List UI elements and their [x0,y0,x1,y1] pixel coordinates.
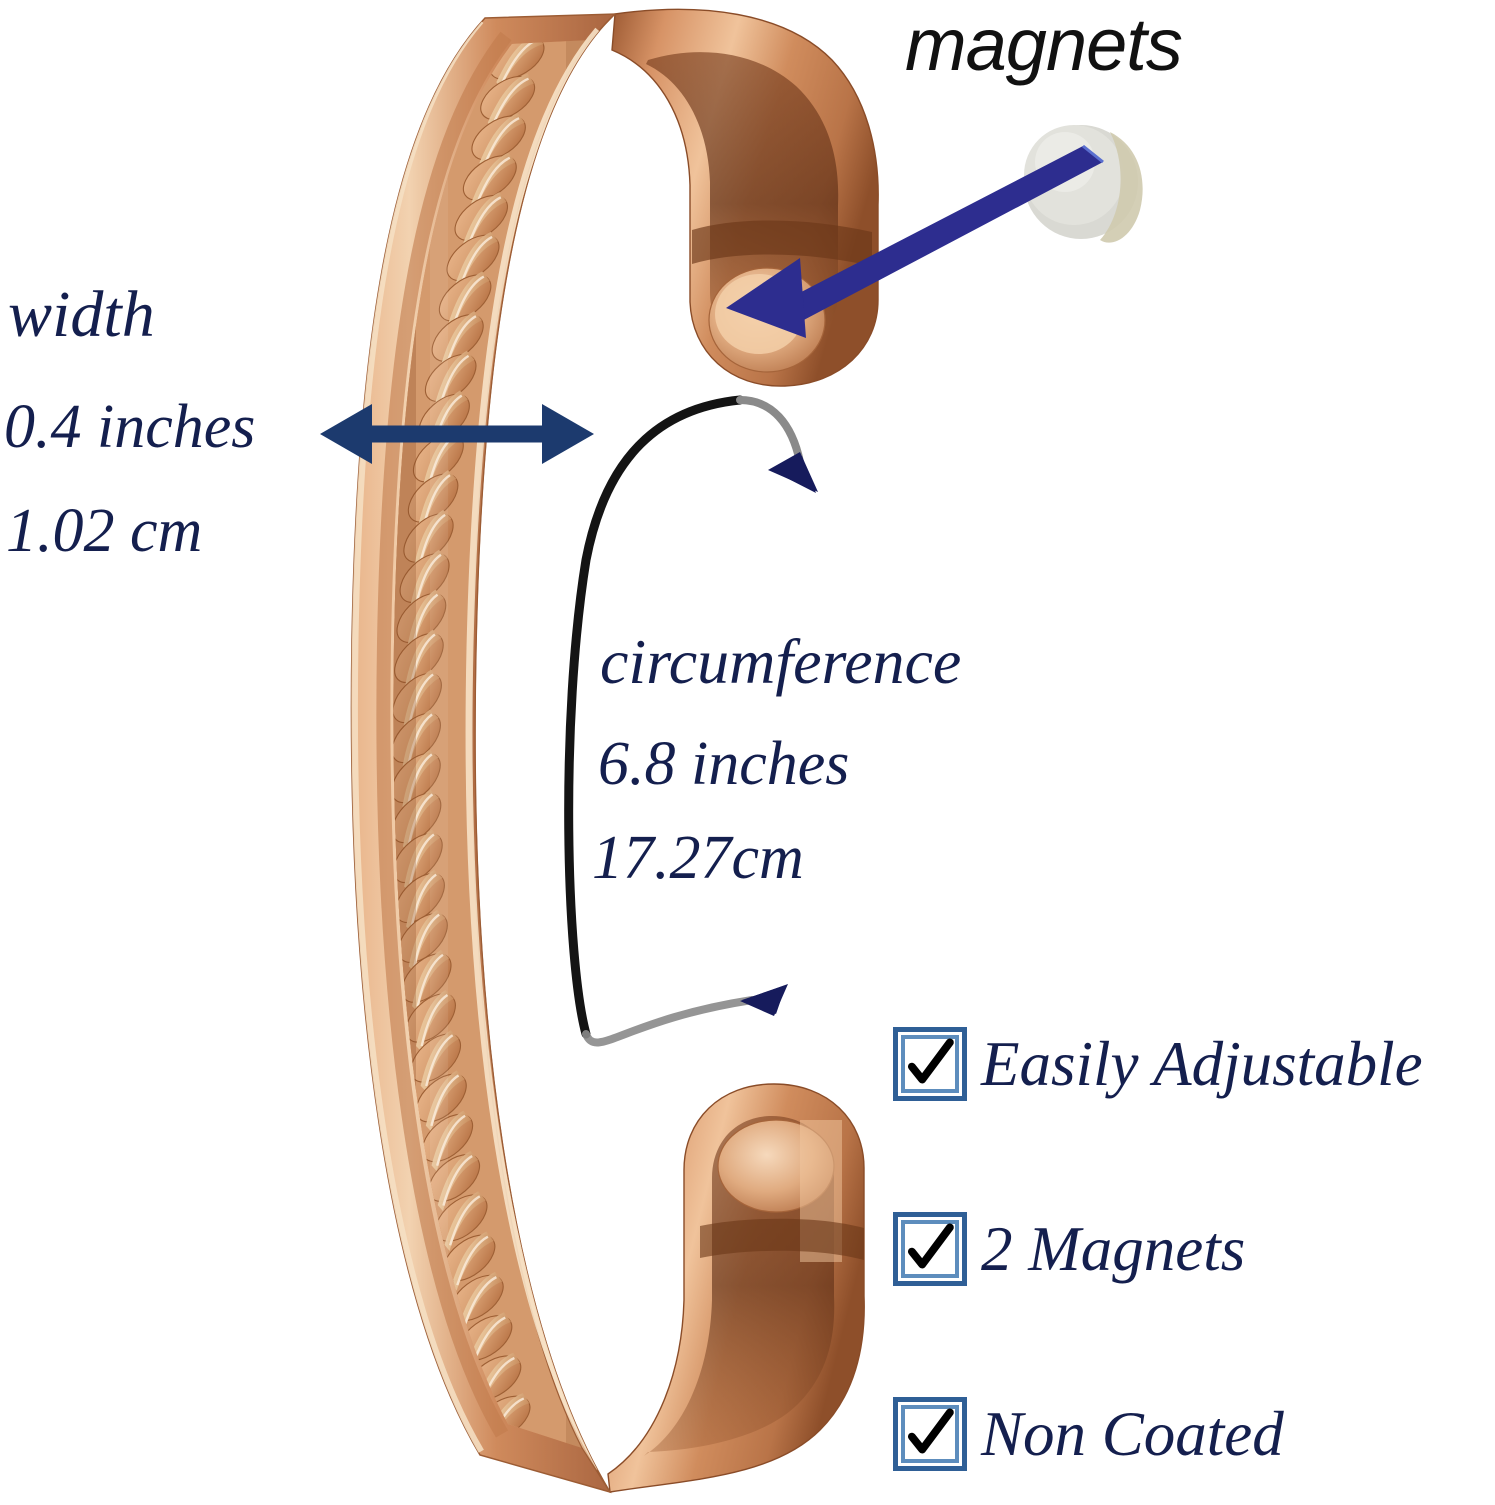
bottom-terminal-cap [608,1084,864,1492]
checkbox-2-magnets[interactable] [893,1212,967,1286]
feature-label-2-magnets: 2 Magnets [981,1218,1245,1281]
checkbox-non-coated[interactable] [893,1397,967,1471]
check-icon [898,1032,962,1096]
bracelet-band [311,0,615,1500]
check-icon [898,1217,962,1281]
feature-item-easily-adjustable[interactable]: Easily Adjustable [893,1018,1423,1110]
circumference-cm-label: 17.27cm [592,827,804,889]
magnets-callout-label: magnets [905,2,1182,87]
check-icon [898,1402,962,1466]
width-title-label: width [8,282,155,348]
infographic-canvas: width 0.4 inches 1.02 cm circumference 6… [0,0,1495,1500]
feature-item-non-coated[interactable]: Non Coated [893,1388,1284,1480]
checkbox-easily-adjustable[interactable] [893,1027,967,1101]
feature-item-2-magnets[interactable]: 2 Magnets [893,1203,1245,1295]
width-inches-label: 0.4 inches [4,396,255,458]
loose-magnet-disc [1024,125,1143,243]
circumference-inches-label: 6.8 inches [598,733,849,795]
top-terminal-cap [612,9,878,386]
feature-label-non-coated: Non Coated [981,1403,1284,1466]
feature-label-easily-adjustable: Easily Adjustable [981,1033,1423,1096]
width-cm-label: 1.02 cm [6,500,202,562]
circumference-title-label: circumference [600,630,961,694]
